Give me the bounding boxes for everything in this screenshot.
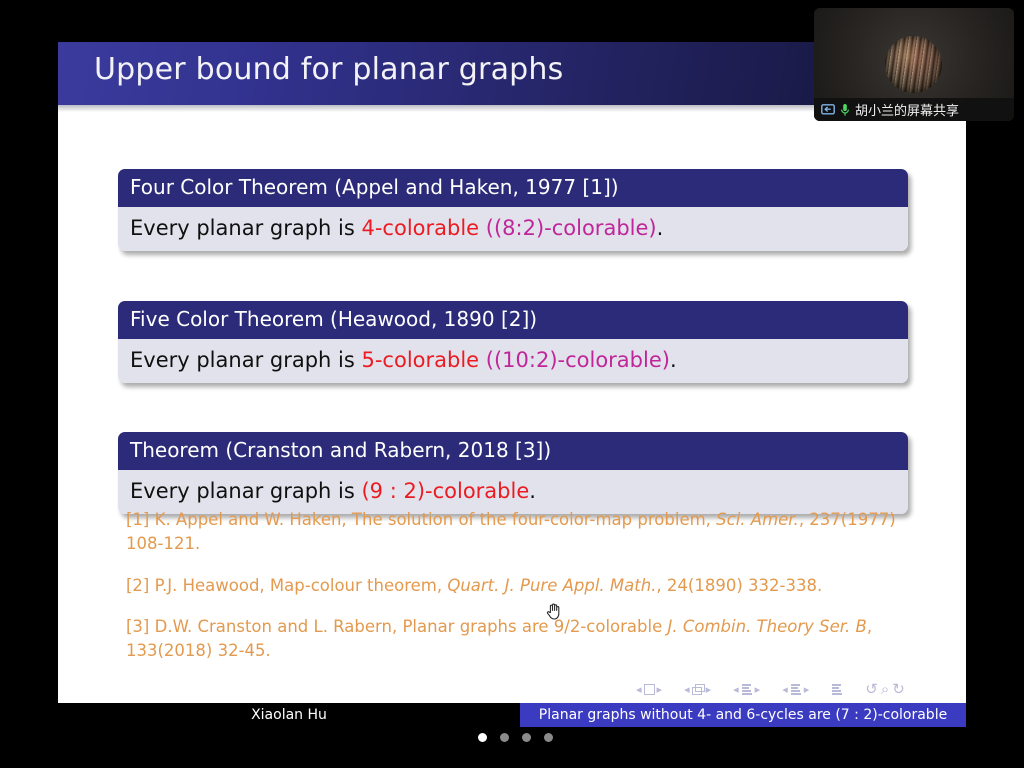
- slide-nav-group[interactable]: ◂ ▸: [636, 683, 662, 696]
- reference-text-a: K. Appel and W. Haken, The solution of t…: [149, 510, 716, 529]
- beamer-navigation-bar[interactable]: ◂ ▸ ◂ ▸ ◂ ▸ ◂ ▸ ↺ ⌕ ↻: [636, 679, 956, 699]
- theorem-highlight: 5-colorable: [361, 348, 479, 372]
- theorem-block-five-color: Five Color Theorem (Heawood, 1890 [2]) E…: [118, 301, 908, 383]
- footer-talk-title: Planar graphs without 4- and 6-cycles ar…: [520, 703, 966, 727]
- participant-avatar: [885, 36, 942, 93]
- reference-journal: Sci. Amer.: [716, 510, 799, 529]
- theorem-block-body: Every planar graph is 5-colorable ((10:2…: [118, 339, 908, 383]
- page-indicator-dots[interactable]: [478, 733, 553, 742]
- page-dot[interactable]: [478, 733, 487, 742]
- frame-icon[interactable]: [692, 684, 704, 695]
- presentation-slide: Upper bound for planar graphs Four Color…: [58, 42, 966, 703]
- reference-item: [1] K. Appel and W. Haken, The solution …: [126, 508, 926, 557]
- page-dot[interactable]: [544, 733, 553, 742]
- theorem-text-prefix: Every planar graph is: [130, 479, 361, 503]
- section-next-icon[interactable]: ▸: [804, 683, 810, 696]
- theorem-block-title: Five Color Theorem (Heawood, 1890 [2]): [118, 301, 908, 339]
- references-list: [1] K. Appel and W. Haken, The solution …: [126, 508, 926, 680]
- subsection-nav-group[interactable]: ◂ ▸: [733, 683, 760, 696]
- theorem-block-body: Every planar graph is 4-colorable ((8:2)…: [118, 207, 908, 251]
- reference-text-a: P.J. Heawood, Map-colour theorem,: [149, 576, 447, 595]
- subsection-next-icon[interactable]: ▸: [755, 683, 761, 696]
- subsection-prev-icon[interactable]: ◂: [733, 683, 739, 696]
- reference-text-b: , 24(1890) 332-338.: [656, 576, 822, 595]
- slide-icon[interactable]: [644, 684, 655, 695]
- theorem-text-prefix: Every planar graph is: [130, 216, 361, 240]
- avatar-tint: [885, 36, 942, 93]
- search-icon[interactable]: ⌕: [881, 680, 889, 698]
- page-dot[interactable]: [500, 733, 509, 742]
- reference-marker: [3]: [126, 617, 149, 636]
- theorem-highlight: (9 : 2)-colorable: [361, 479, 529, 503]
- screen-share-video-overlay[interactable]: 胡小兰的屏幕共享: [814, 8, 1014, 121]
- theorem-space: [479, 348, 486, 372]
- reference-marker: [2]: [126, 576, 149, 595]
- reference-marker: [1]: [126, 510, 149, 529]
- theorem-text-prefix: Every planar graph is: [130, 348, 361, 372]
- forward-icon[interactable]: ↻: [892, 680, 905, 698]
- reference-journal: Quart. J. Pure Appl. Math.: [447, 576, 656, 595]
- frame-next-icon[interactable]: ▸: [706, 683, 712, 696]
- theorem-highlight: 4-colorable: [361, 216, 479, 240]
- back-icon[interactable]: ↺: [865, 680, 878, 698]
- section-prev-icon[interactable]: ◂: [782, 683, 788, 696]
- slide-next-icon[interactable]: ▸: [657, 683, 663, 696]
- theorem-paren-note: ((8:2)-colorable): [486, 216, 657, 240]
- reference-item: [2] P.J. Heawood, Map-colour theorem, Qu…: [126, 574, 926, 598]
- section-nav-group[interactable]: ◂ ▸: [782, 683, 809, 696]
- screen-share-icon: [821, 104, 835, 116]
- overlay-label-text: 胡小兰的屏幕共享: [855, 100, 959, 119]
- page-dot[interactable]: [522, 733, 531, 742]
- footer-author: Xiaolan Hu: [58, 703, 520, 727]
- presentation-icon[interactable]: [831, 683, 843, 695]
- slide-prev-icon[interactable]: ◂: [636, 683, 642, 696]
- theorem-text-suffix: .: [657, 216, 664, 240]
- theorem-block-four-color: Four Color Theorem (Appel and Haken, 197…: [118, 169, 908, 251]
- reference-text-a: D.W. Cranston and L. Rabern, Planar grap…: [149, 617, 667, 636]
- slide-footer: Xiaolan Hu Planar graphs without 4- and …: [58, 703, 1024, 727]
- microphone-icon: [840, 103, 850, 117]
- overlay-status-bar: 胡小兰的屏幕共享: [814, 98, 1014, 121]
- theorem-block-title: Theorem (Cranston and Rabern, 2018 [3]): [118, 432, 908, 470]
- theorem-space: [479, 216, 486, 240]
- subsection-icon[interactable]: [741, 683, 753, 695]
- reference-journal: J. Combin. Theory Ser. B: [667, 617, 866, 636]
- frame-nav-group[interactable]: ◂ ▸: [684, 683, 711, 696]
- theorem-block-cranston-rabern: Theorem (Cranston and Rabern, 2018 [3]) …: [118, 432, 908, 514]
- theorem-text-suffix: .: [529, 479, 536, 503]
- section-icon[interactable]: [790, 683, 802, 695]
- page-title: Upper bound for planar graphs: [94, 52, 563, 87]
- theorem-text-suffix: .: [670, 348, 677, 372]
- frame-prev-icon[interactable]: ◂: [684, 683, 690, 696]
- theorem-block-title: Four Color Theorem (Appel and Haken, 197…: [118, 169, 908, 207]
- theorem-paren-note: ((10:2)-colorable): [486, 348, 670, 372]
- reference-item: [3] D.W. Cranston and L. Rabern, Planar …: [126, 615, 926, 664]
